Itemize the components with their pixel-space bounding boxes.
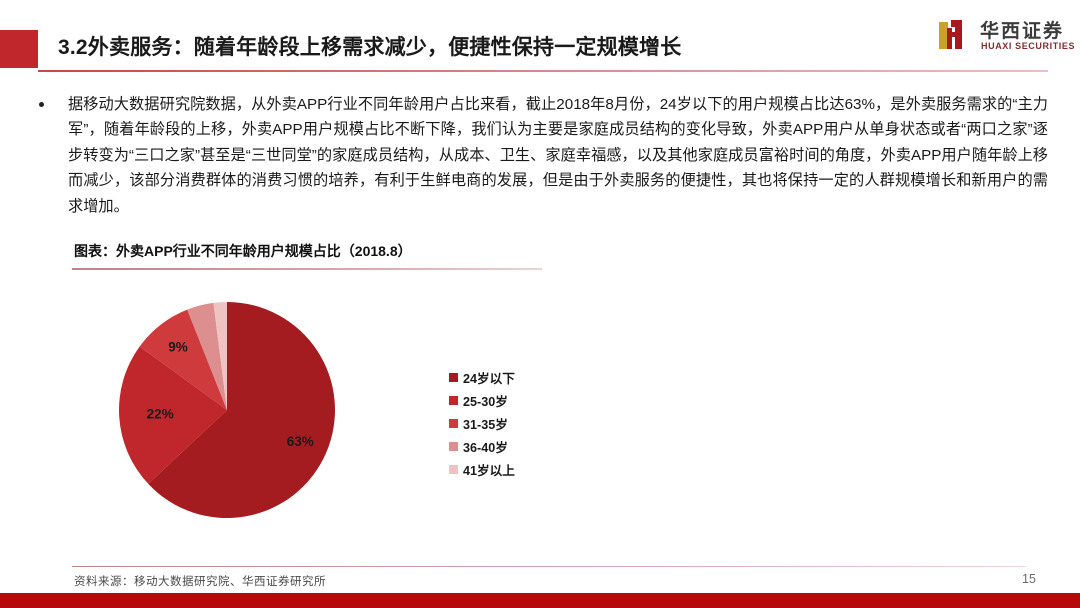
legend-swatch-icon xyxy=(449,396,458,405)
page-number: 15 xyxy=(1022,572,1036,586)
page-title: 3.2外卖服务：随着年龄段上移需求减少，便捷性保持一定规模增长 xyxy=(58,31,681,61)
logo-name-en: HUAXI SECURITIES xyxy=(981,41,1075,51)
legend-item-label: 36-40岁 xyxy=(463,437,508,456)
figure-caption-divider xyxy=(72,268,542,270)
legend-swatch-icon xyxy=(449,373,458,382)
legend-swatch-icon xyxy=(449,419,458,428)
legend-swatch-icon xyxy=(449,442,458,451)
figure-caption: 图表：外卖APP行业不同年龄用户规模占比（2018.8） xyxy=(74,241,412,261)
title-accent-block xyxy=(0,30,38,68)
pie-slice-label: 22% xyxy=(147,407,174,422)
pie-svg: 63%22%9%4%2% xyxy=(117,300,337,520)
legend-item-label: 41岁以上 xyxy=(463,460,515,479)
pie-canvas: 63%22%9%4%2% xyxy=(117,300,337,520)
logo-name-cn: 华西证券 xyxy=(980,16,1064,43)
body-paragraph-block: 据移动大数据研究院数据，从外卖APP行业不同年龄用户占比来看，截止2018年8月… xyxy=(36,92,1048,219)
huaxi-h-mark-icon xyxy=(938,18,972,52)
footer-divider xyxy=(72,566,1026,567)
pie-slice-label: 9% xyxy=(168,339,188,354)
bullet-dot-icon xyxy=(39,102,44,107)
legend-item-label: 25-30岁 xyxy=(463,391,508,410)
legend-item[interactable]: 25-30岁 xyxy=(449,389,515,412)
title-divider xyxy=(38,70,1048,72)
legend-item[interactable]: 41岁以上 xyxy=(449,458,515,481)
company-logo: 华西证券 HUAXI SECURITIES xyxy=(938,16,1066,60)
legend-item[interactable]: 24岁以下 xyxy=(449,366,515,389)
legend-item[interactable]: 31-35岁 xyxy=(449,412,515,435)
body-paragraph: 据移动大数据研究院数据，从外卖APP行业不同年龄用户占比来看，截止2018年8月… xyxy=(68,92,1048,219)
chart-legend: 24岁以下25-30岁31-35岁36-40岁41岁以上 xyxy=(449,366,515,481)
legend-swatch-icon xyxy=(449,465,458,474)
legend-item[interactable]: 36-40岁 xyxy=(449,435,515,458)
slide-header: 3.2外卖服务：随着年龄段上移需求减少，便捷性保持一定规模增长 xyxy=(0,0,1080,80)
source-note: 资料来源：移动大数据研究院、华西证券研究所 xyxy=(74,573,326,589)
pie-slice-label: 63% xyxy=(287,434,314,449)
pie-chart: 63%22%9%4%2% 24岁以下25-30岁31-35岁36-40岁41岁以… xyxy=(72,278,592,528)
footer-bar xyxy=(0,593,1080,608)
legend-item-label: 24岁以下 xyxy=(463,368,515,387)
legend-item-label: 31-35岁 xyxy=(463,414,508,433)
